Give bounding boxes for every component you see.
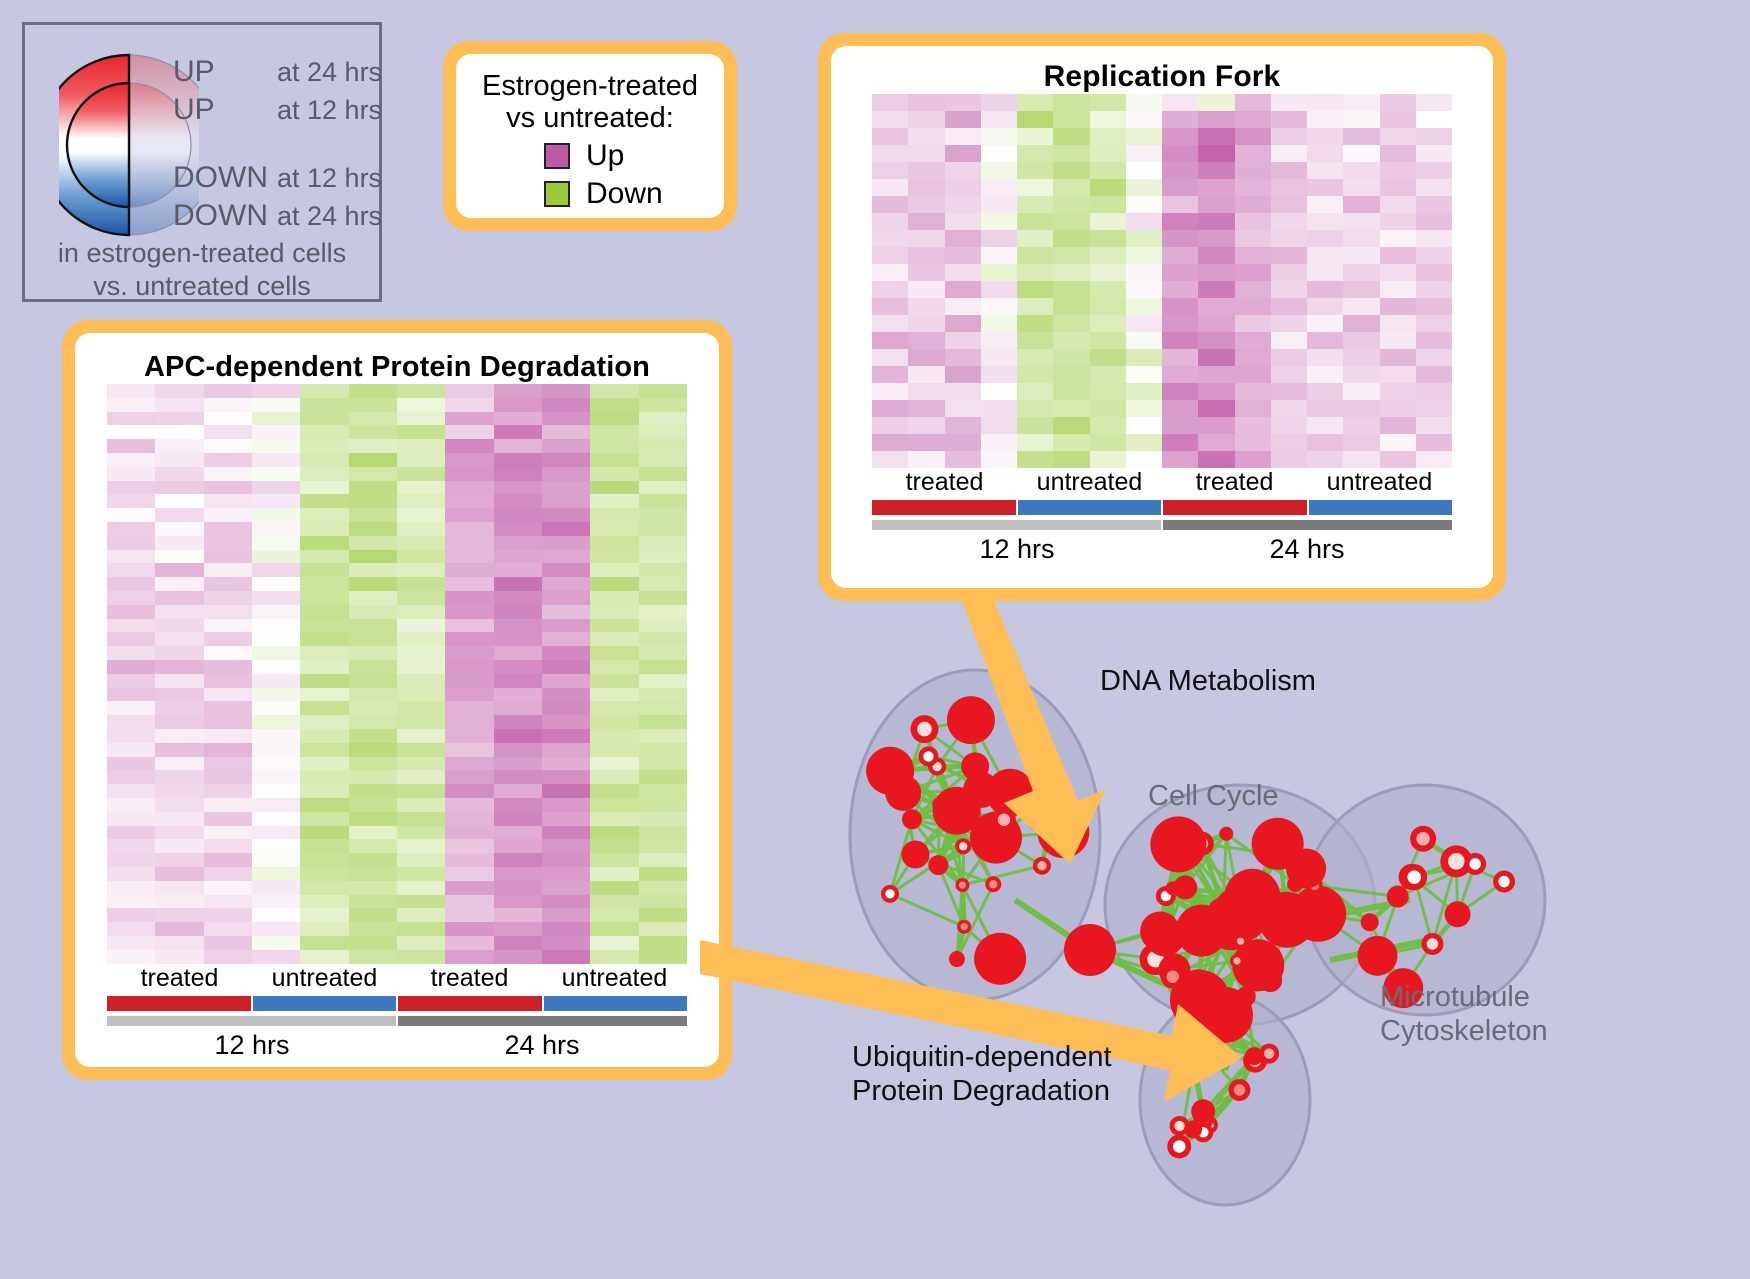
treatment-bar-row [872,500,1452,515]
heatmap-cell [1162,128,1198,145]
heatmap-cell [1090,366,1126,383]
heatmap-cell [1307,451,1343,468]
heatmap-cell [107,950,155,964]
heatmap-cell [300,715,348,729]
heatmap-cell [1343,315,1379,332]
heatmap-cell [945,298,981,315]
heatmap-cell [639,646,687,660]
heatmap-cell [639,950,687,964]
heatmap-cell [204,688,252,702]
heatmap-cell [349,646,397,660]
heatmap-cell [445,729,493,743]
heatmap-cell [981,281,1017,298]
timepoint-bar-row [107,1016,687,1026]
heatmap-cell [872,281,908,298]
wheel-time: at 12 hrs [277,95,382,126]
heatmap-cell [1162,247,1198,264]
heatmap-cell [1380,281,1416,298]
heatmap-cell [1017,400,1053,417]
heatmap-cell [445,950,493,964]
colour-wheel-caption: in estrogen-treated cells vs. untreated … [25,237,379,303]
heatmap-cell [494,688,542,702]
treatment-bar [253,996,397,1011]
heatmap-cell [445,798,493,812]
heatmap-cell [349,853,397,867]
heatmap-cell [155,563,203,577]
wheel-row: DOWN at 12 hrs [173,161,383,199]
treatment-bar [398,996,542,1011]
heatmap-cell [872,417,908,434]
heatmap-cell [155,743,203,757]
heatmap-cell [590,384,638,398]
heatmap-cell [1271,366,1307,383]
heatmap-cell [1416,417,1452,434]
heatmap-cell [639,398,687,412]
heatmap-cell [590,743,638,757]
heatmap-cell [155,632,203,646]
heatmap-cell [1053,298,1089,315]
heatmap-cell [542,632,590,646]
heatmap-cell [590,701,638,715]
heatmap-cell [639,550,687,564]
heatmap-cell [494,412,542,426]
heatmap-cell [494,508,542,522]
heatmap-cell [252,743,300,757]
wheel-direction: DOWN [173,161,277,195]
heatmap-cell [1235,417,1271,434]
heatmap-cell [1126,281,1162,298]
heatmap-cell [981,264,1017,281]
heatmap-cell [252,646,300,660]
heatmap-cell [397,867,445,881]
updown-title-line-1: Estrogen-treated [466,70,714,102]
heatmap-cell [349,467,397,481]
heatmap-cell [155,412,203,426]
heatmap-cell [349,660,397,674]
heatmap-cell [542,398,590,412]
network-node [1224,869,1280,925]
heatmap-cell [908,281,944,298]
heatmap-cell [981,230,1017,247]
treatment-bar [1163,500,1307,515]
heatmap-cell [349,577,397,591]
heatmap-cell [542,757,590,771]
heatmap-cell [1235,281,1271,298]
heatmap-cell [1017,434,1053,451]
heatmap-cell [1416,196,1452,213]
heatmap-cell [252,839,300,853]
heatmap-cell [981,417,1017,434]
heatmap-cell [204,881,252,895]
heatmap-cell [639,936,687,950]
heatmap-cell [397,522,445,536]
heatmap-cell [397,605,445,619]
heatmap-cell [1126,315,1162,332]
heatmap-cell [252,908,300,922]
heatmap-cell [349,715,397,729]
heatmap-cell [445,743,493,757]
heatmap-cell [300,412,348,426]
heatmap-cell [1271,196,1307,213]
heatmap-cell [107,536,155,550]
heatmap-cell [252,729,300,743]
heatmap-cell [445,646,493,660]
heatmap-cell [1198,179,1234,196]
heatmap-cell [542,508,590,522]
heatmap-cell [981,94,1017,111]
heatmap-cell [445,895,493,909]
heatmap-cell [542,425,590,439]
heatmap-cell [397,508,445,522]
heatmap-cell [872,111,908,128]
heatmap-cell [639,798,687,812]
heatmap-cell [252,784,300,798]
heatmap-cell [349,674,397,688]
heatmap-cell [397,757,445,771]
heatmap-cell [300,425,348,439]
timepoint-bar [1163,520,1452,530]
heatmap-cell [1380,383,1416,400]
heatmap-cell [590,922,638,936]
heatmap-cell [349,605,397,619]
heatmap-cell [252,867,300,881]
network-node-core [1264,1048,1274,1058]
heatmap-cell [445,425,493,439]
heatmap-cell [397,481,445,495]
heatmap-cell [1053,349,1089,366]
heatmap-cell [1162,281,1198,298]
heatmap-cell [204,908,252,922]
heatmap-cell [1090,111,1126,128]
legend-label-up: Up [586,139,624,173]
heatmap-cell [155,867,203,881]
heatmap-cell [590,550,638,564]
heatmap-cell [590,591,638,605]
heatmap-cell [252,439,300,453]
colour-wheel-label-list: UP at 24 hrs UP at 12 hrs DOWN at 12 hrs… [173,55,383,237]
heatmap-cell [872,332,908,349]
heatmap-cell [590,895,638,909]
heatmap-cell [107,812,155,826]
heatmap-cell [1380,434,1416,451]
heatmap-cell [397,895,445,909]
heatmap-cell [1235,264,1271,281]
heatmap-cell [107,936,155,950]
heatmap-cell [204,577,252,591]
heatmap-cell [155,646,203,660]
heatmap-cell [1380,417,1416,434]
heatmap-cell [349,536,397,550]
heatmap-cell [639,425,687,439]
heatmap-cell [1017,451,1053,468]
heatmap-cell [494,826,542,840]
heatmap-cell [1416,128,1452,145]
heatmap-cell [252,591,300,605]
heatmap-cell [1198,417,1234,434]
heatmap-cell [1307,298,1343,315]
heatmap-cell [542,384,590,398]
heatmap-cell [1090,281,1126,298]
heatmap-cell [1307,383,1343,400]
group-label: untreated [1307,468,1452,497]
heatmap-cell [445,688,493,702]
heatmap-cell [204,605,252,619]
treatment-bar-row [107,996,687,1011]
heatmap-cell [945,383,981,400]
heatmap-cell [397,950,445,964]
heatmap-cell [204,439,252,453]
heatmap-cell [1380,230,1416,247]
heatmap-cell [1271,264,1307,281]
heatmap-cell [349,729,397,743]
heatmap-cell [1235,230,1271,247]
heatmap-cell [494,536,542,550]
heatmap-cell [1307,366,1343,383]
heatmap-cell [590,646,638,660]
heatmap-cell [542,839,590,853]
heatmap-cell [252,481,300,495]
heatmap-cell [590,425,638,439]
heatmap-cell [639,522,687,536]
heatmap-cell [542,563,590,577]
heatmap-cell [204,701,252,715]
heatmap-cell [349,522,397,536]
group-label: untreated [1017,468,1162,497]
heatmap-cell [1090,94,1126,111]
heatmap-cell [981,162,1017,179]
heatmap-cell [1380,247,1416,264]
heatmap-cell [300,550,348,564]
heatmap-cell [1162,400,1198,417]
heatmap-cell [908,451,944,468]
heatmap-cell [1126,366,1162,383]
heatmap-cell [252,550,300,564]
heatmap-cell [349,839,397,853]
heatmap-cell [155,522,203,536]
heatmap-cell [445,481,493,495]
heatmap-cell [107,508,155,522]
heatmap-cell [155,453,203,467]
heatmap-cell [945,417,981,434]
heatmap-cell [107,867,155,881]
heatmap-cell [204,494,252,508]
heatmap-cell [590,688,638,702]
heatmap-cell [1307,179,1343,196]
heatmap-cell [542,439,590,453]
heatmap-cell [945,145,981,162]
heatmap-cell [1307,145,1343,162]
heatmap-cell [107,798,155,812]
heatmap-cell [1271,94,1307,111]
heatmap-cell [908,434,944,451]
heatmap-cell [1271,213,1307,230]
heatmap-cell [1307,162,1343,179]
heatmap-cell [445,591,493,605]
heatmap-cell [1126,264,1162,281]
heatmap-cell [590,784,638,798]
heatmap-cell [300,798,348,812]
heatmap-cell [590,508,638,522]
heatmap-cell [349,895,397,909]
heatmap-cell [1380,162,1416,179]
heatmap-cell [445,550,493,564]
heatmap-cell [1017,213,1053,230]
heatmap-cell [397,536,445,550]
heatmap-cell [494,605,542,619]
heatmap-cell [204,412,252,426]
heatmap-cell [542,660,590,674]
timepoint-bar-row [872,520,1452,530]
cluster-label-microtubule-cytoskeleton: Microtubule Cytoskeleton [1380,980,1548,1048]
heatmap-cell [300,757,348,771]
heatmap-cell [1198,128,1234,145]
heatmap-cell [1307,281,1343,298]
heatmap-cell [1162,264,1198,281]
panel-title: Replication Fork [831,46,1493,94]
heatmap-cell [590,674,638,688]
treatment-bar [1018,500,1162,515]
heatmap-cell [252,467,300,481]
heatmap-cell [494,701,542,715]
heatmap-cell [155,798,203,812]
heatmap-cell [397,439,445,453]
heatmap-cell [1235,332,1271,349]
heatmap-cell [1198,145,1234,162]
heatmap-cell [252,895,300,909]
heatmap-cell [300,384,348,398]
network-node-core [1448,853,1465,870]
heatmap-cell [1053,196,1089,213]
heatmap-cell [1343,400,1379,417]
network-node-core [989,880,997,888]
heatmap-cell [300,481,348,495]
heatmap-cell [1017,145,1053,162]
heatmap-cell [872,315,908,332]
heatmap-cell [1198,247,1234,264]
heatmap-cell [300,398,348,412]
heatmap-cell [252,950,300,964]
heatmap-cell [107,701,155,715]
heatmap-cell [1162,315,1198,332]
heatmap-cell [397,563,445,577]
heatmap-cell [1090,434,1126,451]
heatmap-cell [445,881,493,895]
heatmap-cell [155,950,203,964]
heatmap-cell [397,467,445,481]
heatmap-cell [542,619,590,633]
heatmap-cell [1126,451,1162,468]
heatmap-cell [397,646,445,660]
heatmap-cell [1307,213,1343,230]
wheel-direction: DOWN [173,199,277,233]
heatmap-cell [542,536,590,550]
heatmap-cell [155,481,203,495]
heatmap-cell [107,674,155,688]
heatmap-cell [1271,400,1307,417]
heatmap-cell [542,674,590,688]
updown-legend-card: Estrogen-treated vs untreated: Up Down [443,41,737,231]
heatmap-cell [252,605,300,619]
heatmap-cell [107,715,155,729]
network-node-core [1416,832,1430,846]
heatmap-cell [155,770,203,784]
heatmap-cell [1343,434,1379,451]
heatmap-cell [1416,383,1452,400]
heatmap-cell [155,550,203,564]
heatmap-cell [349,812,397,826]
heatmap-cell [349,867,397,881]
heatmap-cell [300,853,348,867]
heatmap-cell [1126,111,1162,128]
heatmap-cell [155,812,203,826]
heatmap-cell [300,784,348,798]
heatmap-cell [445,867,493,881]
heatmap-cell [639,922,687,936]
heatmap-cell [397,412,445,426]
heatmap-cell [155,908,203,922]
treatment-bar [1309,500,1453,515]
heatmap-cell [590,632,638,646]
heatmap-cell [1416,230,1452,247]
heatmap-cell [155,467,203,481]
heatmap-cell [1198,281,1234,298]
heatmap-cell [204,784,252,798]
heatmap-cell [107,853,155,867]
heatmap-cell [1198,162,1234,179]
heatmap-cell [252,577,300,591]
heatmap-cell [1126,349,1162,366]
heatmap-cell [872,179,908,196]
heatmap-cell [1235,128,1271,145]
heatmap-cell [300,508,348,522]
heatmap-cell [107,577,155,591]
heatmap-cell [494,839,542,853]
heatmap-cell [639,591,687,605]
heatmap-cell [494,784,542,798]
heatmap-cell [494,743,542,757]
heatmap-cell [1053,264,1089,281]
heatmap-cell [349,494,397,508]
heatmap-cell [1017,94,1053,111]
heatmap-cell [1235,298,1271,315]
cluster-label-dna-metabolism: DNA Metabolism [1100,665,1316,698]
heatmap-cell [981,451,1017,468]
timepoint-label: 12 hrs [872,534,1162,565]
network-node [1290,886,1346,942]
heatmap-cell [204,770,252,784]
heatmap-cell [1126,196,1162,213]
heatmap-cell [397,425,445,439]
group-label: treated [397,964,542,993]
heatmap-cell [908,383,944,400]
heatmap-cell [300,922,348,936]
heatmap-cell [107,494,155,508]
heatmap-cell [204,715,252,729]
heatmap-cell [397,619,445,633]
heatmap-cell [107,398,155,412]
timepoint-bar [398,1016,687,1026]
heatmap-cell [1017,247,1053,264]
heatmap-cell [1271,247,1307,264]
heatmap-cell [908,230,944,247]
heatmap-cell [300,632,348,646]
heatmap-cell [300,467,348,481]
heatmap-cell [204,563,252,577]
heatmap-cell [1416,213,1452,230]
heatmap-cell [639,632,687,646]
heatmap-cell [872,196,908,213]
heatmap-cell [107,922,155,936]
